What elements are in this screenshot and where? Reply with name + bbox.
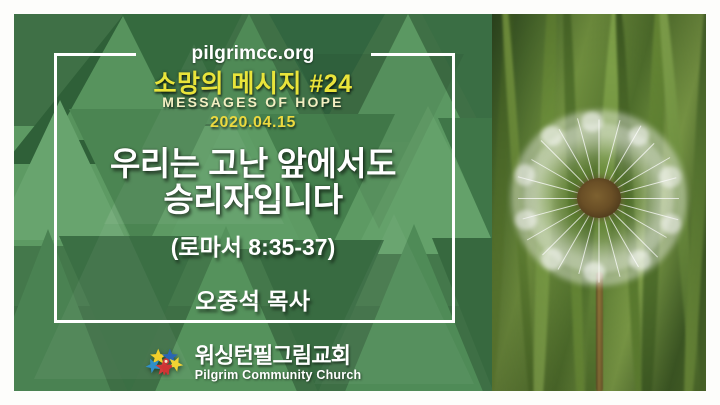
series-title-english: MESSAGES OF HOPE — [14, 94, 492, 110]
logo-wordmark: 워싱턴필그림교회 Pilgrim Community Church — [195, 345, 362, 382]
website-url: pilgrimcc.org — [14, 43, 492, 65]
scripture-reference: (로마서 8:35-37) — [14, 228, 492, 262]
sermon-title-line-2: 승리자입니다 — [14, 182, 492, 218]
speaker-name: 오중석 목사 — [14, 282, 492, 316]
dandelion-photo — [492, 14, 706, 391]
sermon-date: 2020.04.15 — [14, 114, 492, 132]
star-people-logo-icon — [145, 343, 187, 383]
sermon-title-line-1: 우리는 고난 앞에서도 — [14, 146, 492, 182]
green-mosaic-panel: pilgrimcc.org 소망의 메시지 #24 MESSAGES OF HO… — [14, 14, 492, 391]
church-name-english: Pilgrim Community Church — [195, 369, 362, 382]
frame-bottom-segment — [54, 320, 455, 323]
church-name-korean: 워싱턴필그림교회 — [195, 345, 362, 367]
slide-canvas: pilgrimcc.org 소망의 메시지 #24 MESSAGES OF HO… — [0, 0, 720, 405]
sermon-title: 우리는 고난 앞에서도 승리자입니다 — [14, 146, 492, 217]
photo-vignette — [492, 14, 706, 391]
church-logo-lockup: 워싱턴필그림교회 Pilgrim Community Church — [14, 339, 492, 387]
slide-card: pilgrimcc.org 소망의 메시지 #24 MESSAGES OF HO… — [14, 14, 706, 391]
